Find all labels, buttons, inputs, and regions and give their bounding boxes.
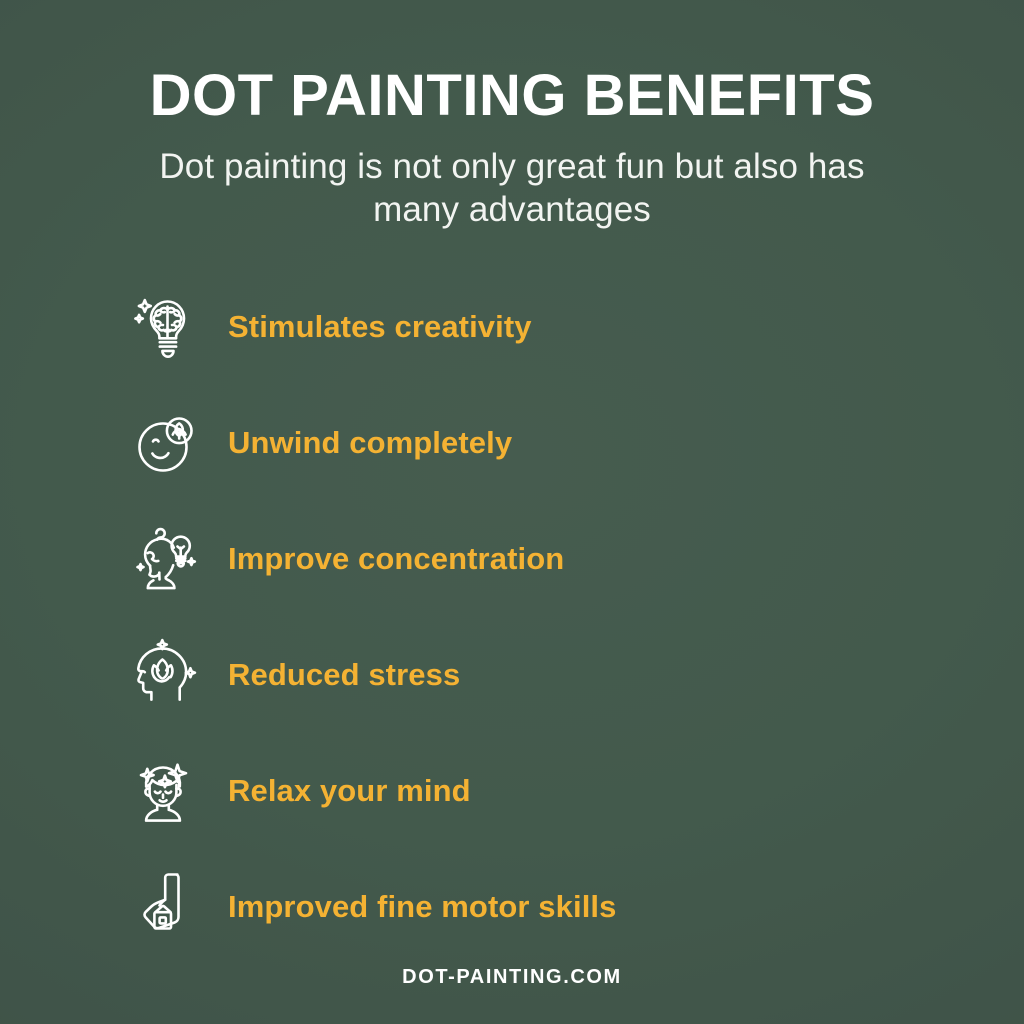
page-title: DOT PAINTING BENEFITS: [0, 0, 1024, 125]
website-url: DOT-PAINTING.COM: [402, 966, 622, 989]
benefit-item-reduced-stress: Reduced stress: [0, 616, 1024, 732]
benefit-label: Unwind completely: [228, 427, 512, 458]
benefit-item-stimulates-creativity: Stimulates creativity: [0, 268, 1024, 384]
benefit-label: Improved fine motor skills: [228, 891, 616, 922]
benefit-item-improved-fine-motor-skills: Improved fine motor skills: [0, 848, 1024, 964]
head-profile-lotus-icon: [133, 633, 199, 715]
poster-footer: DOT-PAINTING.COM: [0, 966, 1024, 1024]
benefit-item-improve-concentration: Improve concentration: [0, 500, 1024, 616]
benefits-list: Stimulates creativity: [0, 268, 1024, 964]
winking-smiley-flower-icon: [133, 401, 199, 483]
poster-header: DOT PAINTING BENEFITS Dot painting is no…: [0, 0, 1024, 231]
infographic-poster: DOT PAINTING BENEFITS Dot painting is no…: [0, 0, 1024, 1024]
head-profile-lightbulb-icon: [133, 517, 199, 599]
benefit-label: Improve concentration: [228, 543, 564, 574]
benefit-label: Reduced stress: [228, 659, 460, 690]
relaxed-face-sparkles-icon: [133, 749, 199, 831]
benefit-label: Relax your mind: [228, 775, 471, 806]
benefit-label: Stimulates creativity: [228, 311, 532, 342]
benefit-item-relax-your-mind: Relax your mind: [0, 732, 1024, 848]
hand-pinching-icon: [133, 865, 199, 947]
benefit-item-unwind-completely: Unwind completely: [0, 384, 1024, 500]
page-subtitle: Dot painting is not only great fun but a…: [132, 125, 892, 231]
brain-lightbulb-icon: [133, 285, 199, 367]
